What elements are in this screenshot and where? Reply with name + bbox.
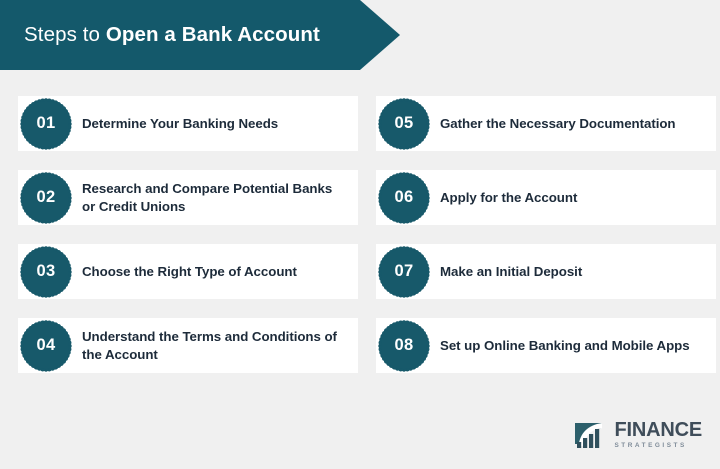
step-number-text: 07: [395, 263, 414, 280]
step-label: Choose the Right Type of Account: [82, 263, 309, 281]
step-number-text: 06: [395, 189, 414, 206]
step-card[interactable]: 01Determine Your Banking Needs: [18, 96, 358, 151]
page-title-light: Steps to: [24, 23, 106, 46]
step-number-circle: 01: [23, 101, 69, 147]
step-label: Make an Initial Deposit: [440, 263, 594, 281]
step-number-circle: 08: [381, 323, 427, 369]
step-number-text: 08: [395, 337, 414, 354]
step-number-text: 05: [395, 115, 414, 132]
brand-logo: FINANCE STRATEGISTS: [572, 419, 703, 451]
step-number-circle: 06: [381, 175, 427, 221]
header-banner: Steps to Open a Bank Account: [0, 0, 400, 70]
step-number-badge: 07: [381, 249, 427, 295]
step-card[interactable]: 02Research and Compare Potential Banks o…: [18, 170, 358, 225]
step-card[interactable]: 07Make an Initial Deposit: [376, 244, 716, 299]
step-number-text: 04: [37, 337, 56, 354]
step-label: Apply for the Account: [440, 189, 589, 207]
chart-arrow-icon: [572, 419, 608, 451]
step-number-badge: 01: [23, 101, 69, 147]
step-number-badge: 06: [381, 175, 427, 221]
steps-column-right: 05Gather the Necessary Documentation06Ap…: [376, 96, 716, 373]
step-label: Understand the Terms and Conditions of t…: [82, 328, 358, 364]
step-number-circle: 07: [381, 249, 427, 295]
step-number-badge: 04: [23, 323, 69, 369]
step-number-circle: 05: [381, 101, 427, 147]
step-card[interactable]: 05Gather the Necessary Documentation: [376, 96, 716, 151]
step-label: Gather the Necessary Documentation: [440, 115, 688, 133]
brand-name: FINANCE: [615, 420, 703, 440]
step-card[interactable]: 04Understand the Terms and Conditions of…: [18, 318, 358, 373]
page-title-bold: Open a Bank Account: [106, 23, 320, 46]
steps-column-left: 01Determine Your Banking Needs02Research…: [18, 96, 358, 373]
step-card[interactable]: 03Choose the Right Type of Account: [18, 244, 358, 299]
step-number-badge: 02: [23, 175, 69, 221]
steps-area: 01Determine Your Banking Needs02Research…: [0, 96, 720, 396]
step-number-badge: 05: [381, 101, 427, 147]
step-label: Research and Compare Potential Banks or …: [82, 180, 358, 216]
step-card[interactable]: 06Apply for the Account: [376, 170, 716, 225]
step-number-text: 01: [37, 115, 56, 132]
step-number-circle: 02: [23, 175, 69, 221]
step-number-circle: 03: [23, 249, 69, 295]
step-number-badge: 08: [381, 323, 427, 369]
step-number-text: 03: [37, 263, 56, 280]
step-number-circle: 04: [23, 323, 69, 369]
brand-logo-text: FINANCE STRATEGISTS: [615, 420, 703, 449]
step-label: Determine Your Banking Needs: [82, 115, 290, 133]
step-label: Set up Online Banking and Mobile Apps: [440, 337, 702, 355]
step-card[interactable]: 08Set up Online Banking and Mobile Apps: [376, 318, 716, 373]
step-number-badge: 03: [23, 249, 69, 295]
page-title: Steps to Open a Bank Account: [0, 23, 320, 47]
step-number-text: 02: [37, 189, 56, 206]
brand-tagline: STRATEGISTS: [615, 443, 703, 449]
